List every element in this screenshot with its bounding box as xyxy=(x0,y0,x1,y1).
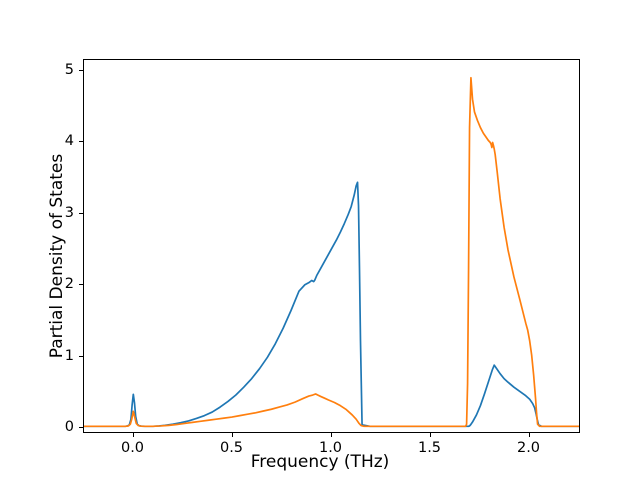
y-tick-mark xyxy=(79,141,83,142)
figure-canvas: 012345 0.00.51.01.52.0 Frequency (THz) P… xyxy=(0,0,640,480)
y-tick-mark xyxy=(79,427,83,428)
x-tick-mark xyxy=(133,433,134,437)
series-line-series1 xyxy=(84,182,579,426)
plot-axes-frame xyxy=(83,59,580,433)
y-axis-label: Partial Density of States xyxy=(47,69,67,443)
series-line-series2 xyxy=(84,78,579,427)
y-tick-mark xyxy=(79,213,83,214)
x-tick-mark xyxy=(232,433,233,437)
y-tick-mark xyxy=(79,70,83,71)
plot-lines-svg xyxy=(84,60,579,432)
y-tick-mark xyxy=(79,284,83,285)
x-tick-mark xyxy=(430,433,431,437)
x-axis-label: Frequency (THz) xyxy=(0,452,640,472)
x-tick-mark xyxy=(331,433,332,437)
y-tick-mark xyxy=(79,356,83,357)
x-tick-mark xyxy=(529,433,530,437)
